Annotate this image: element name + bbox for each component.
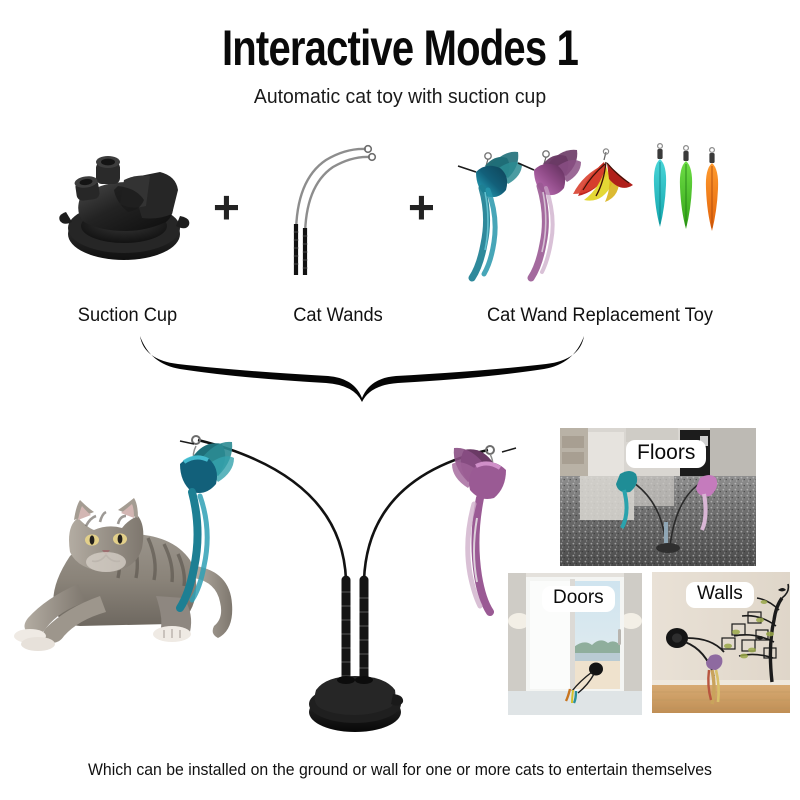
page-title: Interactive Modes 1 <box>80 22 720 74</box>
usage-photo-doors: Doors <box>508 573 642 715</box>
part-label-cat-wands: Cat Wands <box>252 305 425 327</box>
cat-wand-icon <box>278 140 398 275</box>
part-label-replacement-toy: Cat Wand Replacement Toy <box>446 305 753 327</box>
photo-label-floors: Floors <box>626 440 706 468</box>
double-wand-suction-base <box>150 418 530 736</box>
feather-toys-icon <box>452 136 742 286</box>
page-subtitle: Automatic cat toy with suction cup <box>12 86 788 109</box>
bottom-caption: Which can be installed on the ground or … <box>28 760 772 780</box>
photo-label-doors: Doors <box>542 586 615 612</box>
plus-operator-1: + <box>213 184 240 230</box>
usage-photo-walls: Walls <box>652 572 790 713</box>
suction-cup-icon <box>52 142 202 267</box>
plus-operator-2: + <box>408 184 435 230</box>
photo-label-walls: Walls <box>686 582 754 608</box>
infographic-root: Interactive Modes 1 Automatic cat toy wi… <box>0 0 800 800</box>
part-label-suction-cup: Suction Cup <box>20 305 236 327</box>
curly-brace-divider <box>130 334 610 404</box>
usage-photo-floors: Floors <box>560 428 756 566</box>
